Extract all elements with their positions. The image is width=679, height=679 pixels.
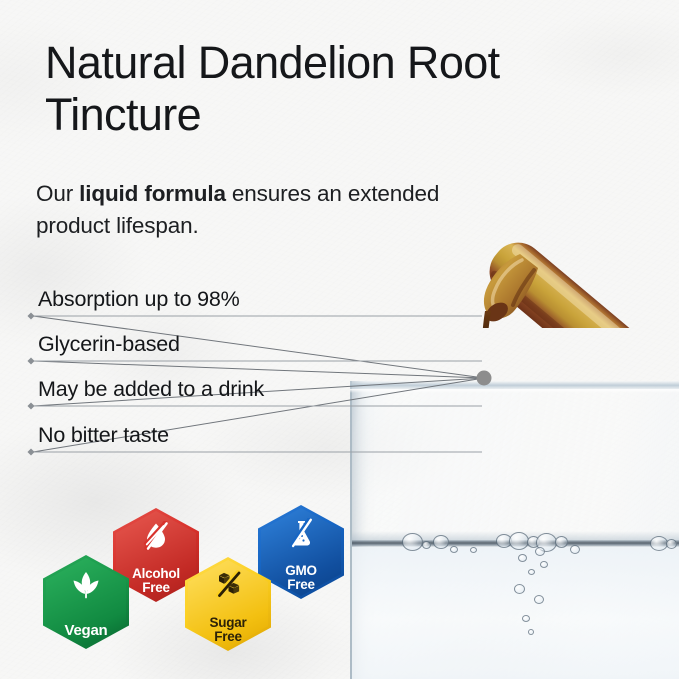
bubble: [540, 561, 548, 568]
product-infographic: Natural Dandelion Root Tincture Our liqu…: [0, 0, 679, 679]
feature-label: Glycerin-based: [38, 332, 180, 357]
flask-slash-icon: [258, 518, 344, 553]
bubble: [518, 554, 527, 562]
certification-badges: GMO Free Alcohol Free: [30, 495, 360, 655]
badge-label-line1: Vegan: [43, 623, 129, 638]
droplet-slash-icon: [113, 521, 199, 556]
glass-rim-highlight: [350, 389, 679, 393]
bubble: [470, 547, 477, 553]
feature-label: May be added to a drink: [38, 377, 264, 402]
glass-of-water: [350, 381, 679, 679]
page-title: Natural Dandelion Root Tincture: [45, 37, 645, 141]
bubble: [422, 541, 431, 549]
sugar-cubes-slash-icon: [185, 570, 271, 603]
feature-label: No bitter taste: [38, 423, 169, 448]
bubble: [522, 615, 530, 622]
bubble: [450, 546, 458, 553]
feature-label: Absorption up to 98%: [38, 287, 240, 312]
leaf-icon: [43, 571, 129, 606]
bubble: [528, 629, 534, 635]
subtitle-emphasis: liquid formula: [79, 181, 226, 206]
subtitle: Our liquid formula ensures an extended p…: [36, 178, 456, 242]
subtitle-before: Our: [36, 181, 79, 206]
badge-label: Vegan: [43, 623, 129, 638]
bubble: [402, 533, 423, 551]
badge-vegan: Vegan: [43, 555, 129, 649]
badge-label: Sugar Free: [185, 616, 271, 644]
bubble: [528, 569, 535, 575]
bubble: [666, 539, 677, 549]
badge-label-line1: Sugar: [185, 616, 271, 630]
bubble: [433, 535, 449, 549]
bubble: [509, 532, 529, 550]
bubble: [534, 595, 544, 604]
water-volume: [352, 547, 679, 679]
bubble: [570, 545, 580, 554]
badge-label-line2: Free: [185, 630, 271, 644]
bubble: [514, 584, 525, 594]
badge-sugar-free: Sugar Free: [185, 557, 271, 651]
bubble: [535, 547, 545, 556]
bubble: [555, 536, 568, 548]
